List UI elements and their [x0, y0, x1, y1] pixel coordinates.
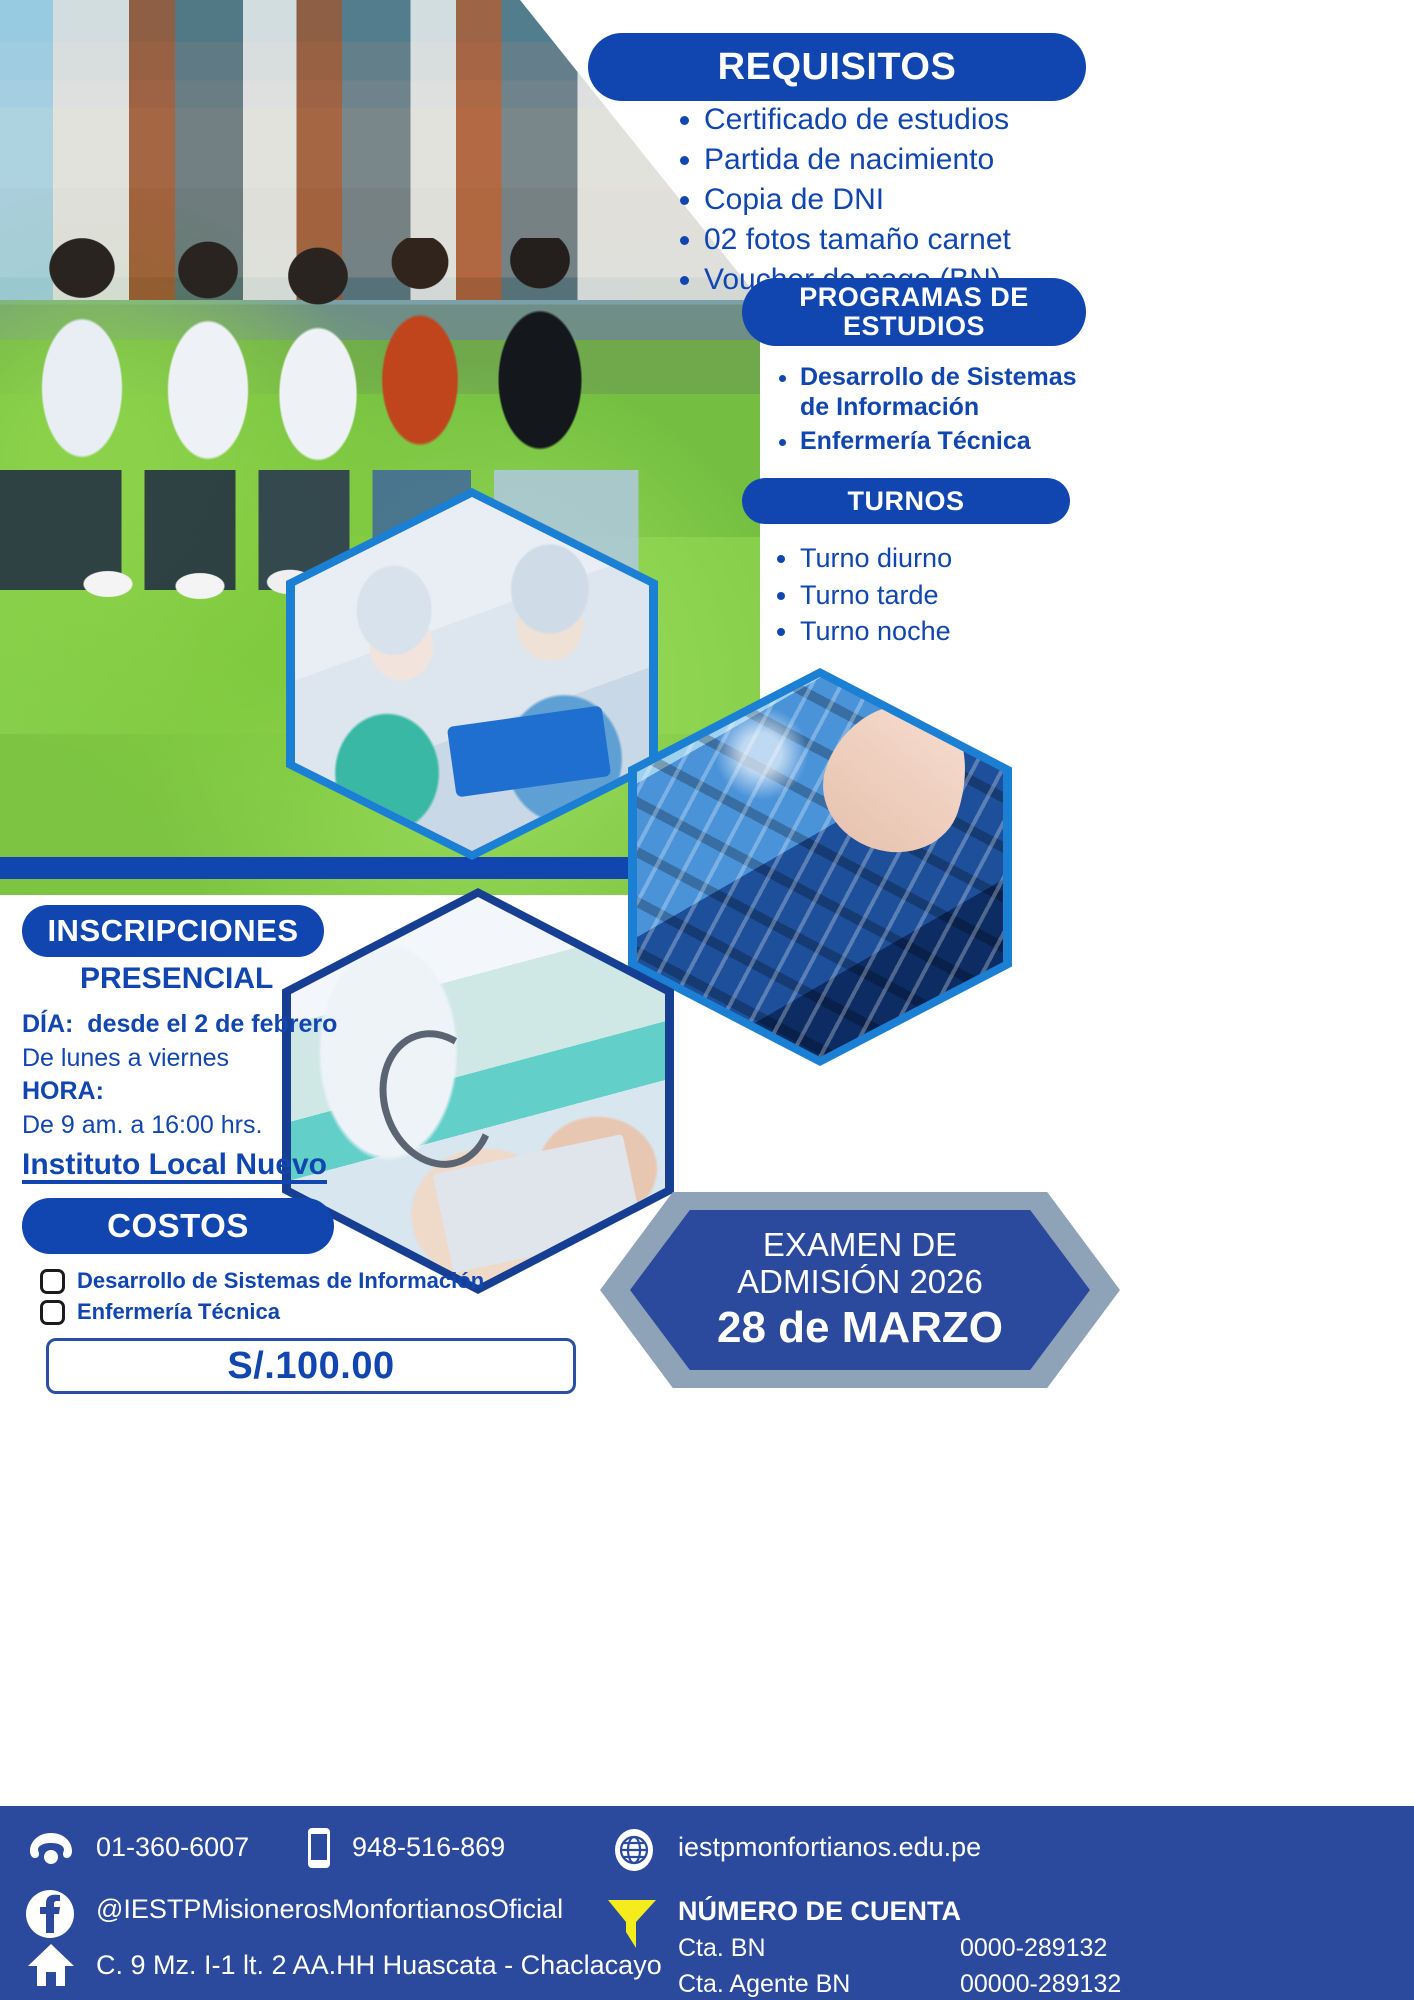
admission-poster: REQUISITOS Certificado de estudios Parti… [0, 0, 1414, 2000]
price-value: S/.100.00 [227, 1345, 394, 1388]
inscripciones-details: DÍA: desde el 2 de febrero De lunes a vi… [22, 1008, 442, 1142]
costos-options: Desarrollo de Sistemas de Información En… [40, 1268, 560, 1330]
exam-badge: EXAMEN DE ADMISIÓN 2026 28 de MARZO [630, 1210, 1090, 1370]
website-url[interactable]: iestpmonfortianos.edu.pe [678, 1832, 981, 1863]
account-label: Cta. Agente BN [678, 1970, 850, 1999]
checkbox-icon[interactable] [40, 1269, 65, 1294]
clipboard-shape [447, 706, 611, 798]
mobile-phone-icon [306, 1826, 332, 1875]
telephone-icon [28, 1830, 74, 1875]
costos-option-row[interactable]: Desarrollo de Sistemas de Información [40, 1268, 560, 1294]
account-value: 00000-289132 [960, 1970, 1121, 1999]
inscripciones-title: INSCRIPCIONES [47, 913, 298, 949]
inscripciones-place: Instituto Local Nuevo [22, 1148, 327, 1182]
list-item: Desarrollo de Sistemas de Información [800, 362, 1088, 422]
address-text: C. 9 Mz. I-1 lt. 2 AA.HH Huascata - Chac… [96, 1950, 662, 1981]
list-item: Turno tarde [800, 577, 1088, 614]
list-item: Turno diurno [800, 540, 1088, 577]
turnos-list: Turno diurno Turno tarde Turno noche [758, 540, 1088, 650]
list-item: 02 fotos tamaño carnet [704, 220, 1180, 260]
yellow-arrow-icon [606, 1896, 658, 1957]
globe-icon [612, 1828, 656, 1877]
costos-option-row[interactable]: Enfermería Técnica [40, 1299, 560, 1325]
requisitos-title: REQUISITOS [718, 46, 957, 89]
phone-number[interactable]: 01-360-6007 [96, 1832, 249, 1863]
inscripciones-mode: PRESENCIAL [80, 962, 273, 996]
costos-option-label: Desarrollo de Sistemas de Información [77, 1268, 484, 1294]
requisitos-list: Certificado de estudios Partida de nacim… [660, 100, 1180, 299]
programas-title: PROGRAMAS DE ESTUDIOS [758, 283, 1070, 341]
account-label: Cta. BN [678, 1934, 766, 1963]
requisitos-header: REQUISITOS [588, 33, 1086, 101]
programas-list: Desarrollo de Sistemas de Información En… [758, 362, 1088, 460]
exam-line-1: EXAMEN DE [763, 1227, 957, 1264]
inscripciones-days-range: De lunes a viernes [22, 1042, 442, 1076]
home-icon [26, 1942, 76, 1993]
inscripciones-day-value: desde el 2 de febrero [87, 1010, 337, 1038]
account-title: NÚMERO DE CUENTA [678, 1896, 961, 1927]
costos-header: COSTOS [22, 1198, 334, 1254]
programas-header: PROGRAMAS DE ESTUDIOS [742, 278, 1086, 346]
facebook-handle[interactable]: @IESTPMisionerosMonfortianosOficial [96, 1894, 563, 1925]
costos-option-label: Enfermería Técnica [77, 1299, 280, 1325]
checkbox-icon[interactable] [40, 1300, 65, 1325]
list-item: Enfermería Técnica [800, 426, 1088, 456]
turnos-title: TURNOS [848, 486, 965, 517]
list-item: Certificado de estudios [704, 100, 1180, 140]
exam-date: 28 de MARZO [717, 1303, 1003, 1353]
costos-title: COSTOS [107, 1207, 249, 1245]
inscripciones-header: INSCRIPCIONES [22, 905, 324, 957]
account-value: 0000-289132 [960, 1934, 1107, 1963]
mobile-number[interactable]: 948-516-869 [352, 1832, 505, 1863]
inscripciones-day-label: DÍA: [22, 1010, 73, 1038]
list-item: Partida de nacimiento [704, 140, 1180, 180]
exam-line-2: ADMISIÓN 2026 [737, 1264, 983, 1301]
nurses-photo-inner [295, 497, 649, 851]
list-item: Copia de DNI [704, 180, 1180, 220]
list-item: Turno noche [800, 613, 1088, 650]
inscripciones-day-row: DÍA: desde el 2 de febrero [22, 1008, 442, 1042]
inscripciones-hour-value: De 9 am. a 16:00 hrs. [22, 1109, 442, 1143]
hand-shape [807, 682, 986, 870]
inscripciones-hour-label: HORA: [22, 1075, 442, 1109]
price-box: S/.100.00 [46, 1338, 576, 1394]
contact-footer: 01-360-6007 948-516-869 @IESTPMisioneros… [0, 1806, 1414, 2000]
facebook-icon[interactable] [24, 1888, 76, 1945]
turnos-header: TURNOS [742, 478, 1070, 524]
